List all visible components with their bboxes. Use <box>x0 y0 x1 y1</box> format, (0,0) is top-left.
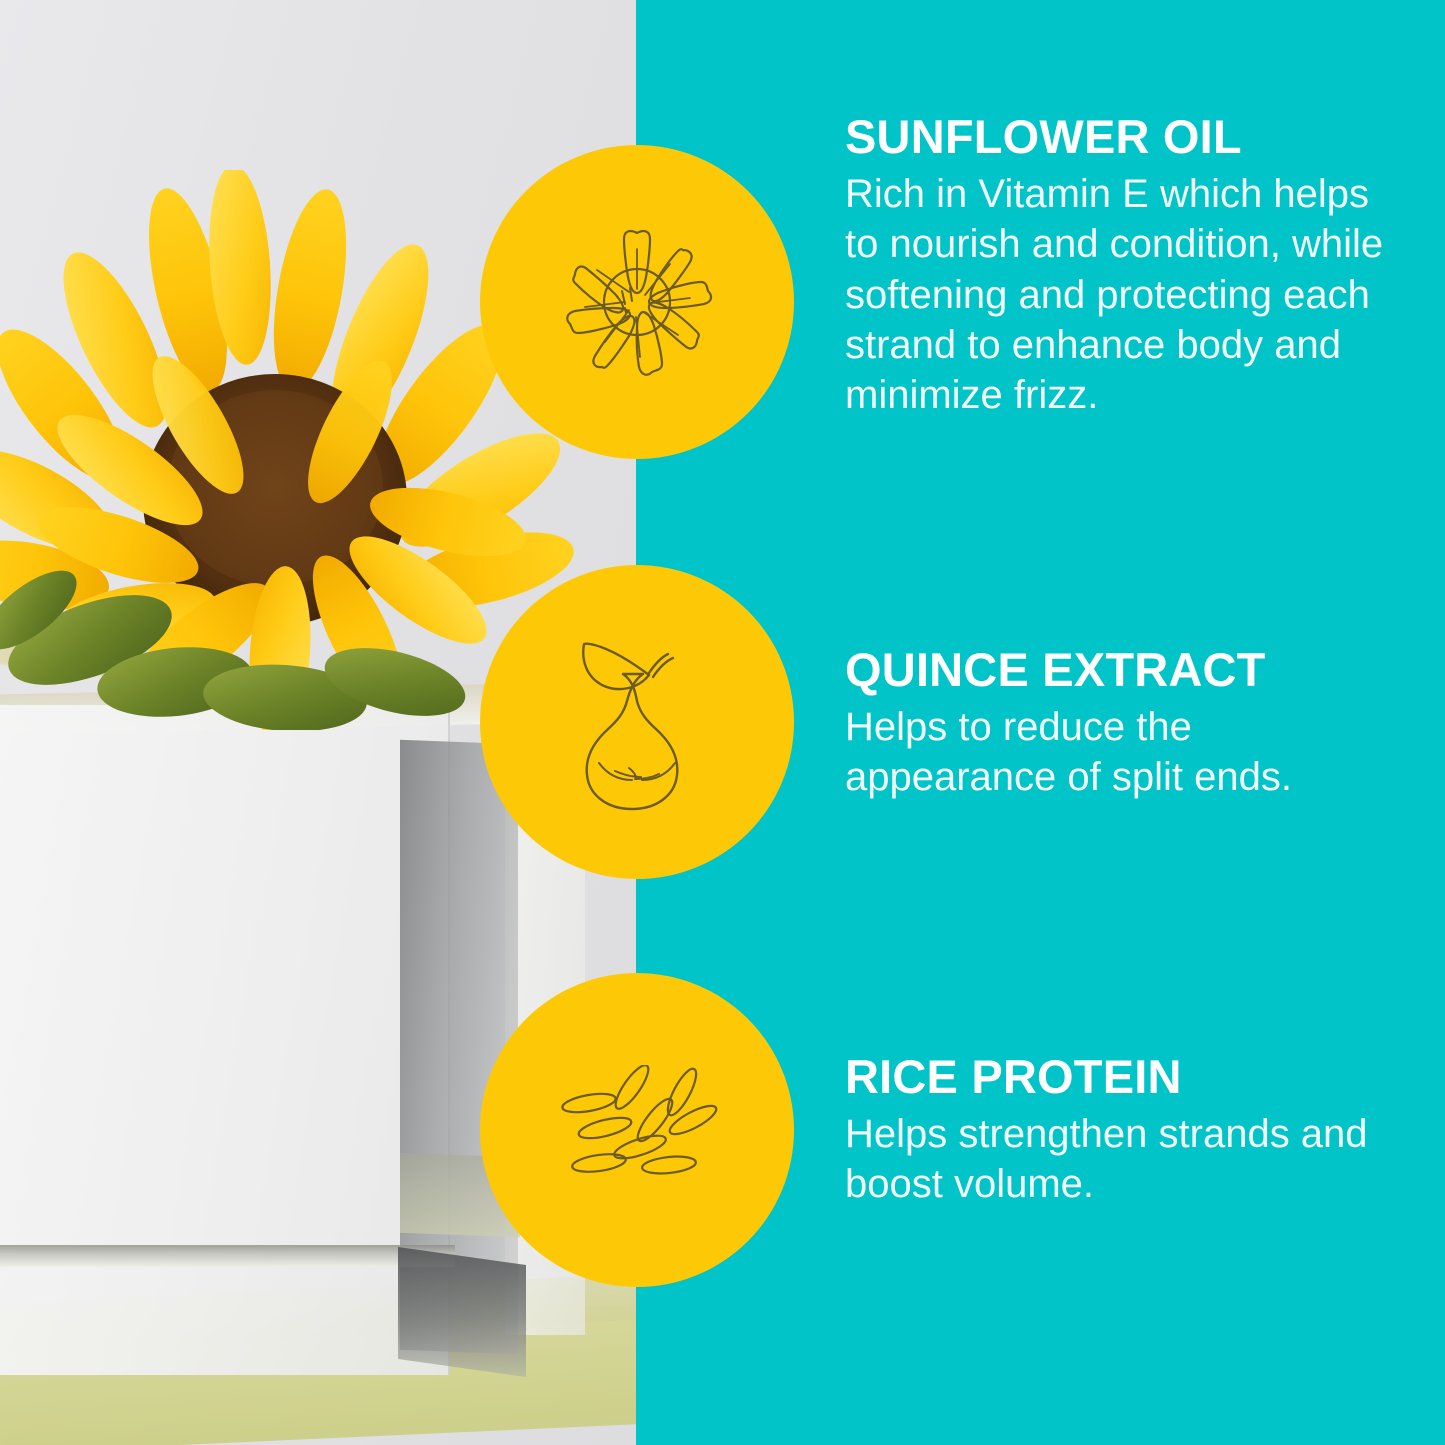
ingredient-badge-quince-extract <box>480 565 794 879</box>
rice-grains-icon <box>547 1065 727 1195</box>
ingredient-description: Rich in Vitamin E which helps to nourish… <box>845 169 1397 421</box>
ingredient-badge-rice-protein <box>480 973 794 1287</box>
acrylic-block-front-face <box>0 705 450 1375</box>
ingredient-title: SUNFLOWER OIL <box>845 112 1397 163</box>
flower-icon <box>542 207 732 397</box>
ingredient-benefits-infographic: SUNFLOWER OIL Rich in Vitamin E which he… <box>0 0 1445 1445</box>
ingredient-description: Helps to reduce the appearance of split … <box>845 702 1397 803</box>
acrylic-block-front-edge <box>0 1245 455 1267</box>
pear-icon <box>537 622 737 822</box>
ingredient-description: Helps strengthen strands and boost volum… <box>845 1109 1397 1210</box>
ingredient-badge-sunflower-oil <box>480 145 794 459</box>
ingredient-text-rice-protein: RICE PROTEIN Helps strengthen strands an… <box>845 1052 1397 1210</box>
ingredient-title: QUINCE EXTRACT <box>845 645 1397 696</box>
acrylic-block-bottom-edge <box>398 1247 526 1377</box>
ingredient-text-quince-extract: QUINCE EXTRACT Helps to reduce the appea… <box>845 645 1397 803</box>
ingredient-text-sunflower-oil: SUNFLOWER OIL Rich in Vitamin E which he… <box>845 112 1397 421</box>
ingredient-title: RICE PROTEIN <box>845 1052 1397 1103</box>
